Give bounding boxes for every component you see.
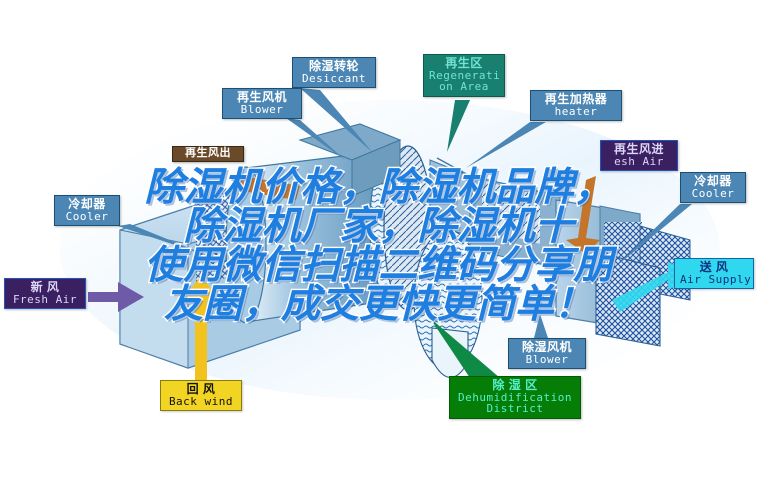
label-dehumidification-blower: 除湿风机 Blower (508, 338, 586, 369)
machine-artwork (0, 0, 757, 488)
label-regeneration-area-en-line2: on Area (429, 81, 499, 93)
label-dehumidification-blower-en: Blower (514, 354, 580, 366)
label-regeneration-heater-en: heater (536, 106, 616, 118)
label-dehumidification-district-en-line2: District (455, 403, 575, 415)
label-fresh-air-en: Fresh Air (10, 294, 80, 306)
label-regeneration-blower-cn: 再生风机 (228, 91, 296, 104)
label-fresh-air-cn: 新 风 (10, 281, 80, 294)
label-regeneration-area: 再生区 Regenerati on Area (423, 54, 505, 97)
label-regeneration-air-in-en: esh Air (606, 156, 672, 168)
label-back-wind: 回 风 Back wind (160, 380, 242, 411)
label-desiccant-wheel-cn: 除湿转轮 (298, 60, 370, 73)
label-cooler-right: 冷却器 Cooler (680, 172, 746, 203)
label-regeneration-air-in: 再生风进 esh Air (600, 140, 678, 171)
label-regeneration-area-cn: 再生区 (429, 57, 499, 70)
label-cooler-right-en: Cooler (686, 188, 740, 200)
label-dehumidification-blower-cn: 除湿风机 (514, 341, 580, 354)
label-dehumidification-district: 除 湿 区 Dehumidification District (449, 376, 581, 419)
label-back-wind-cn: 回 风 (166, 383, 236, 396)
dehumidifier-diagram-image: 除湿转轮 Desiccant 再生风机 Blower 再生区 Regenerat… (0, 0, 757, 488)
label-air-supply-en: Air Supply (680, 274, 748, 286)
label-desiccant-wheel-en: Desiccant (298, 73, 370, 85)
label-back-wind-en: Back wind (166, 396, 236, 408)
label-fresh-air: 新 风 Fresh Air (4, 278, 86, 309)
label-regeneration-heater: 再生加热器 heater (530, 90, 622, 121)
label-cooler-left-en: Cooler (60, 211, 114, 223)
label-dehumidification-district-cn: 除 湿 区 (455, 379, 575, 392)
label-regeneration-blower: 再生风机 Blower (222, 88, 302, 119)
label-cooler-right-cn: 冷却器 (686, 175, 740, 188)
label-cooler-left-cn: 冷却器 (60, 198, 114, 211)
label-regeneration-heater-cn: 再生加热器 (536, 93, 616, 106)
label-regeneration-air-out: 再生风出 (172, 146, 244, 162)
label-regeneration-air-in-cn: 再生风进 (606, 143, 672, 156)
label-cooler-left: 冷却器 Cooler (54, 195, 120, 226)
label-air-supply: 送 风 Air Supply (674, 258, 754, 289)
label-regeneration-air-out-cn: 再生风出 (176, 148, 240, 160)
label-air-supply-cn: 送 风 (680, 261, 748, 274)
label-regeneration-blower-en: Blower (228, 104, 296, 116)
label-desiccant-wheel: 除湿转轮 Desiccant (292, 57, 376, 88)
